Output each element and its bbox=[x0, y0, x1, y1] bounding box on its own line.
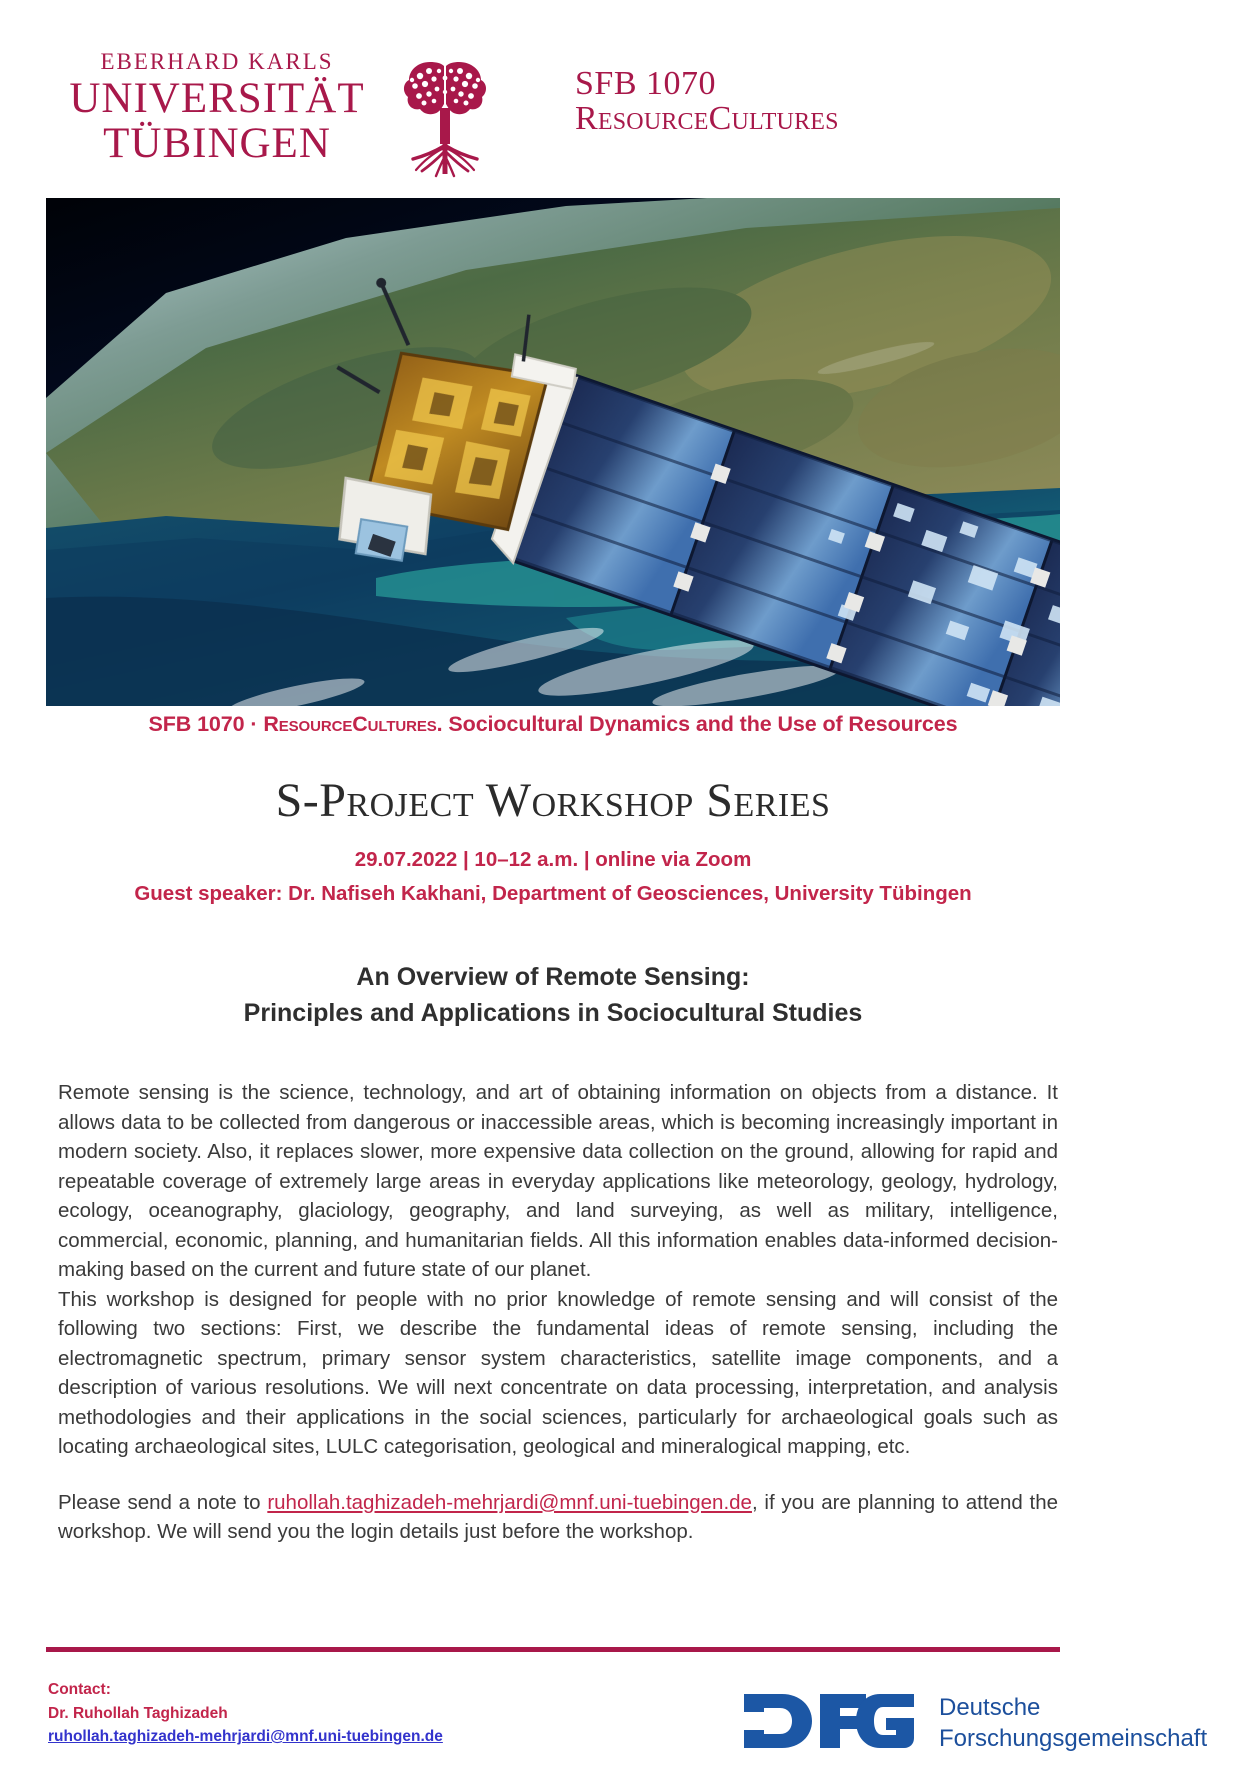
banner-suffix: . Sociocultural Dynamics and the Use of … bbox=[437, 712, 958, 736]
sfb-logo: SFB 1070 ResourceCultures bbox=[575, 66, 839, 137]
dfg-name-line2: Forschungsgemeinschaft bbox=[939, 1724, 1207, 1754]
university-logo-line3: TÜBINGEN bbox=[52, 122, 382, 165]
dfg-logo: Deutsche Forschungsgemeinschaft bbox=[742, 1690, 1207, 1757]
event-speaker: Guest speaker: Dr. Nafiseh Kakhani, Depa… bbox=[46, 882, 1060, 906]
sfb-logo-line2: ResourceCultures bbox=[575, 101, 839, 136]
university-logo: EBERHARD KARLS UNIVERSITÄT TÜBINGEN bbox=[52, 50, 382, 165]
contact-name: Dr. Ruhollah Taghizadeh bbox=[48, 1702, 443, 1726]
talk-heading-line2: Principles and Applications in Sociocult… bbox=[46, 996, 1060, 1032]
contact-email-link[interactable]: ruhollah.taghizadeh-mehrjardi@mnf.uni-tu… bbox=[48, 1728, 443, 1745]
banner-prefix: SFB 1070 · bbox=[149, 712, 264, 736]
banner-smallcaps: ResourceCultures bbox=[263, 712, 436, 736]
talk-heading-line1: An Overview of Remote Sensing: bbox=[46, 960, 1060, 996]
sfb-banner: SFB 1070 · ResourceCultures. Sociocultur… bbox=[46, 712, 1060, 737]
body-paragraph-closing: Please send a note to ruhollah.taghizade… bbox=[58, 1488, 1058, 1547]
dfg-name: Deutsche Forschungsgemeinschaft bbox=[939, 1693, 1207, 1753]
event-datetime: 29.07.2022 | 10–12 a.m. | online via Zoo… bbox=[46, 848, 1060, 872]
body-paragraph-1: Remote sensing is the science, technolog… bbox=[58, 1078, 1058, 1285]
satellite-over-earth-image bbox=[46, 198, 1060, 706]
workshop-email-link[interactable]: ruhollah.taghizadeh-mehrjardi@mnf.uni-tu… bbox=[267, 1491, 752, 1514]
university-logo-line1: EBERHARD KARLS bbox=[52, 50, 382, 73]
contact-label: Contact: bbox=[48, 1678, 443, 1702]
dfg-wordmark-icon bbox=[742, 1690, 917, 1757]
page-title: S-Project Workshop Series bbox=[46, 773, 1060, 828]
footer-divider bbox=[46, 1647, 1060, 1652]
tree-with-roots-icon bbox=[400, 56, 490, 178]
talk-heading: An Overview of Remote Sensing: Principle… bbox=[46, 960, 1060, 1031]
body-paragraph-2: This workshop is designed for people wit… bbox=[58, 1285, 1058, 1462]
body-text: Remote sensing is the science, technolog… bbox=[58, 1078, 1058, 1547]
dfg-name-line1: Deutsche bbox=[939, 1693, 1207, 1723]
closing-text-before: Please send a note to bbox=[58, 1491, 267, 1514]
contact-block: Contact: Dr. Ruhollah Taghizadeh ruholla… bbox=[48, 1678, 443, 1749]
poster-page: EBERHARD KARLS UNIVERSITÄT TÜBINGEN bbox=[0, 0, 1260, 1783]
page-header: EBERHARD KARLS UNIVERSITÄT TÜBINGEN bbox=[0, 38, 1260, 188]
sfb-logo-line1: SFB 1070 bbox=[575, 66, 839, 101]
university-logo-line2: UNIVERSITÄT bbox=[52, 77, 382, 120]
